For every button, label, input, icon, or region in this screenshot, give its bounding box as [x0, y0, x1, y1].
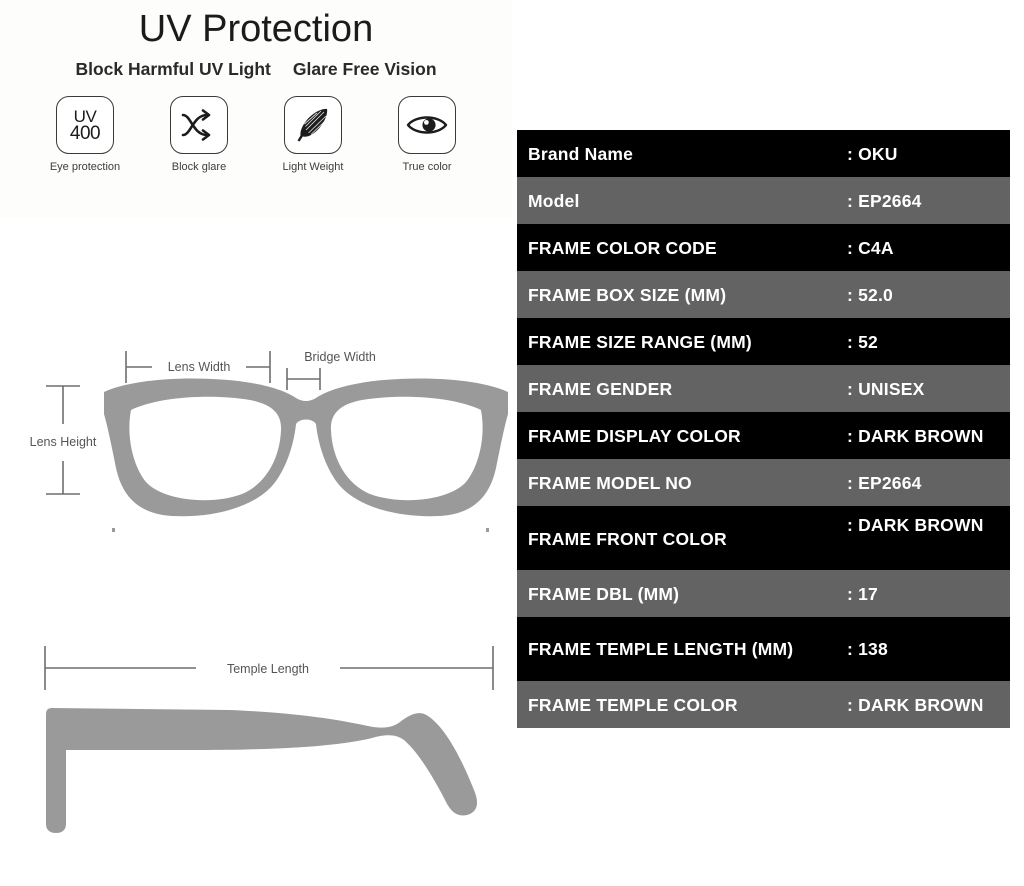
lens-width-dimension: Lens Width [126, 351, 270, 383]
table-row: FRAME DBL (MM) : 17 [517, 570, 1010, 617]
table-row: Brand Name : OKU [517, 130, 1010, 177]
spec-label: FRAME DBL (MM) [517, 583, 847, 605]
table-row: FRAME BOX SIZE (MM) : 52.0 [517, 271, 1010, 318]
spec-value: : DARK BROWN [847, 425, 1010, 447]
table-row: FRAME SIZE RANGE (MM) : 52 [517, 318, 1010, 365]
spec-label: FRAME DISPLAY COLOR [517, 425, 847, 447]
feature-true-color: True color [389, 96, 465, 173]
spec-label: FRAME FRONT COLOR [517, 512, 847, 550]
spec-label: FRAME COLOR CODE [517, 237, 847, 259]
table-row: FRAME COLOR CODE : C4A [517, 224, 1010, 271]
lens-height-label: Lens Height [30, 435, 97, 449]
spec-value: : C4A [847, 237, 1010, 259]
promo-title: UV Protection [0, 0, 512, 55]
spec-value: : 52.0 [847, 284, 1010, 306]
spec-value: : OKU [847, 143, 1010, 165]
promo-feature-row: UV 400 Eye protection [0, 96, 512, 173]
spec-label: FRAME MODEL NO [517, 472, 847, 494]
promo-subtitle-row: Block Harmful UV Light Glare Free Vision [0, 59, 512, 80]
spec-value: : 138 [847, 638, 1010, 660]
feature-light-weight: Light Weight [275, 96, 351, 173]
lens-height-dimension: Lens Height [30, 386, 97, 494]
spec-label: FRAME TEMPLE COLOR [517, 694, 847, 716]
spec-value: : EP2664 [847, 190, 1010, 212]
spec-label: FRAME TEMPLE LENGTH (MM) [517, 638, 847, 660]
feature-icon-box [284, 96, 342, 154]
uv-protection-promo: UV Protection Block Harmful UV Light Gla… [0, 0, 512, 218]
table-row: FRAME DISPLAY COLOR : DARK BROWN [517, 412, 1010, 459]
shuffle-arrows-icon [179, 108, 219, 142]
feather-icon [293, 105, 333, 145]
eye-icon [405, 110, 449, 140]
feature-icon-box [170, 96, 228, 154]
feature-eye-protection: UV 400 Eye protection [47, 96, 123, 173]
table-row: FRAME TEMPLE COLOR : DARK BROWN [517, 681, 1010, 728]
spec-value: : DARK BROWN [847, 512, 1010, 536]
spec-value: : 17 [847, 583, 1010, 605]
feature-block-glare: Block glare [161, 96, 237, 173]
spec-label: Model [517, 190, 847, 212]
uv400-badge-icon: UV 400 [70, 108, 100, 142]
feature-caption: Light Weight [283, 161, 344, 173]
eyeglass-frame-shape [104, 379, 508, 517]
spec-value: : 52 [847, 331, 1010, 353]
feature-caption: True color [402, 161, 451, 173]
table-row: FRAME MODEL NO : EP2664 [517, 459, 1010, 506]
spec-label: FRAME BOX SIZE (MM) [517, 284, 847, 306]
table-row: FRAME FRONT COLOR : DARK BROWN [517, 506, 1010, 570]
spec-value: : UNISEX [847, 378, 1010, 400]
lens-width-label: Lens Width [168, 360, 231, 374]
spec-value: : DARK BROWN [847, 694, 1010, 716]
product-spec-sheet: UV Protection Block Harmful UV Light Gla… [0, 0, 1024, 886]
feature-caption: Block glare [172, 161, 226, 173]
table-row: Model : EP2664 [517, 177, 1010, 224]
frame-tick-left [112, 528, 115, 532]
spec-value: : EP2664 [847, 472, 1010, 494]
spec-label: Brand Name [517, 143, 847, 165]
temple-length-label: Temple Length [227, 662, 309, 676]
feature-icon-box [398, 96, 456, 154]
spec-label: FRAME SIZE RANGE (MM) [517, 331, 847, 353]
table-row: FRAME GENDER : UNISEX [517, 365, 1010, 412]
product-spec-table: Brand Name : OKU Model : EP2664 FRAME CO… [517, 130, 1010, 728]
table-row: FRAME TEMPLE LENGTH (MM) : 138 [517, 617, 1010, 681]
feature-caption: Eye protection [50, 161, 120, 173]
uv400-line2: 400 [70, 125, 100, 142]
temple-length-diagram: Temple Length [0, 628, 512, 848]
feature-icon-box: UV 400 [56, 96, 114, 154]
frame-front-diagram: Lens Width Bridge Width Lens Height [0, 318, 512, 578]
frame-tick-right [486, 528, 489, 532]
temple-arm-shape [46, 708, 477, 833]
temple-length-dimension: Temple Length [45, 646, 493, 690]
bridge-width-label: Bridge Width [304, 350, 376, 364]
left-illustration-panel: UV Protection Block Harmful UV Light Gla… [0, 0, 512, 886]
promo-subtitle-block-uv: Block Harmful UV Light [75, 59, 270, 80]
promo-subtitle-glare-free: Glare Free Vision [293, 59, 437, 80]
spec-label: FRAME GENDER [517, 378, 847, 400]
